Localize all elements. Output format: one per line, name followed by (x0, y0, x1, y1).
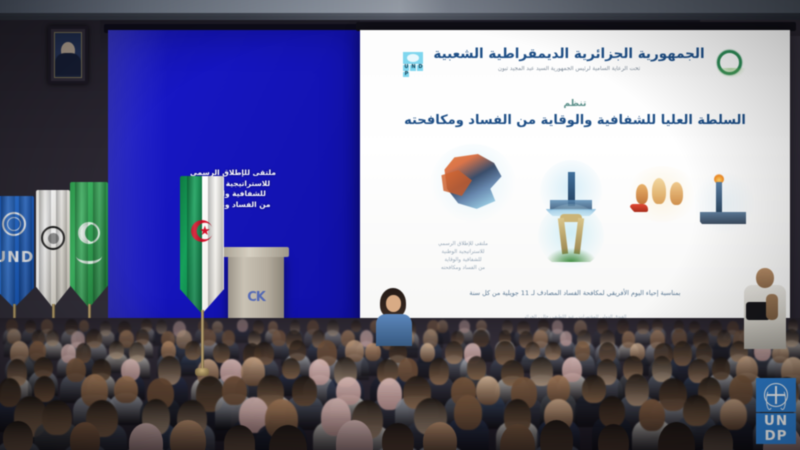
camera-operator (742, 268, 790, 348)
collage-caption-line-3: للشفافية والوقاية (408, 256, 518, 264)
algeria-flag-field (180, 176, 224, 314)
undp-letter-d: D (417, 65, 423, 71)
green-flag-field (70, 182, 108, 308)
speaker-body (376, 314, 412, 346)
arab-league-flag (70, 182, 108, 308)
arch-greenery (546, 248, 596, 262)
flag-pole (201, 310, 204, 370)
podium-emblem: CK (245, 290, 267, 308)
operator-head (756, 268, 774, 288)
desert-figure (670, 182, 683, 205)
algeria-white-half (202, 176, 224, 314)
undp-letter-u: U (403, 65, 409, 71)
conference-hall-scene: ملتقى للإطلاق الرسمي للاستراتيجية الوطني… (0, 0, 800, 450)
slide-header-text: الجمهورية الجزائرية الديمقراطية الشعبية … (433, 46, 704, 74)
undp-letter-p: P (403, 72, 409, 78)
desert-figure (652, 178, 666, 204)
desert-scene-illustration (626, 166, 698, 222)
institution-emblem-icon (41, 226, 65, 250)
flag-base (195, 368, 209, 376)
crescent-icon (78, 222, 100, 244)
ring-icon (717, 50, 742, 75)
watermark-globe-panel (756, 378, 796, 412)
framed-portrait (48, 26, 88, 84)
presentation-slide: U N D P الجمهورية الجزائرية الديمقراطية … (360, 30, 790, 330)
projection-screen: U N D P الجمهورية الجزائرية الديمقراطية … (360, 30, 790, 330)
algeria-flag (180, 176, 224, 314)
operator-arm (766, 294, 778, 320)
wreath-left-icon (766, 390, 773, 410)
slide-header: U N D P الجمهورية الجزائرية الديمقراطية … (360, 46, 790, 82)
undp-letter-n: N (410, 65, 416, 71)
portrait-body (55, 53, 81, 75)
desert-vehicle (630, 204, 648, 212)
industrial-stack (716, 182, 722, 212)
wreath-right-icon (779, 390, 786, 410)
undp-flag-cloth: UNDP (0, 196, 34, 308)
watermark-letters-top: UN (764, 413, 788, 429)
industry-illustration (694, 172, 754, 234)
algeria-map-illustration (430, 144, 516, 222)
occasion-line: بمناسبة إحياء اليوم الأفريقي لمكافحة الف… (360, 288, 790, 298)
patronage-line: تحت الرعاية السامية لرئيس الجمهورية السي… (433, 64, 704, 74)
collage-caption-line-2: للاستراتيجية الوطنية (408, 248, 518, 256)
organizer-word: تنظم (360, 98, 790, 110)
green-flag-cloth (70, 182, 108, 308)
collage-caption: ملتقى للإطلاق الرسمي للاستراتيجية الوطني… (408, 240, 518, 272)
un-globe-icon (2, 212, 26, 236)
white-institution-flag (36, 190, 70, 308)
wreath-icon (76, 248, 102, 264)
watermark-letters: UN DP (756, 413, 796, 444)
undp-logo-icon: U N D P (403, 52, 425, 78)
white-flag-cloth (36, 190, 70, 308)
undp-globe-box-icon (403, 52, 423, 64)
republic-header-line: الجمهورية الجزائرية الديمقراطية الشعبية (433, 46, 704, 63)
undp-letter-grid: U N D P (403, 65, 423, 77)
un-globe-icon (764, 383, 788, 407)
algeria-flag-cloth (180, 176, 224, 314)
collage-caption-line-4: من الفساد ومكافحته (408, 264, 518, 272)
algeria-crescent-star-icon (191, 220, 213, 242)
collage-caption-line-1: ملتقى للإطلاق الرسمي (408, 240, 518, 248)
algeria-green-half (180, 176, 202, 314)
speaker-face (386, 295, 401, 312)
desert-figure (636, 184, 648, 204)
authority-logo-icon (713, 48, 747, 82)
woman-at-screen (374, 288, 414, 344)
undp-watermark: UN DP (756, 378, 796, 444)
portrait-inner (54, 32, 82, 78)
undp-flag-label: UNDP (0, 250, 34, 265)
watermark-letters-bottom: DP (764, 428, 787, 444)
slide-title: السلطة العليا للشفافية والوقاية من الفسا… (360, 112, 790, 130)
backdrop-sheen (108, 30, 168, 340)
undp-flag: UNDP (0, 196, 34, 308)
industrial-base (700, 212, 746, 224)
podium-top (223, 247, 289, 257)
maqam-echahid-illustration (538, 204, 604, 268)
